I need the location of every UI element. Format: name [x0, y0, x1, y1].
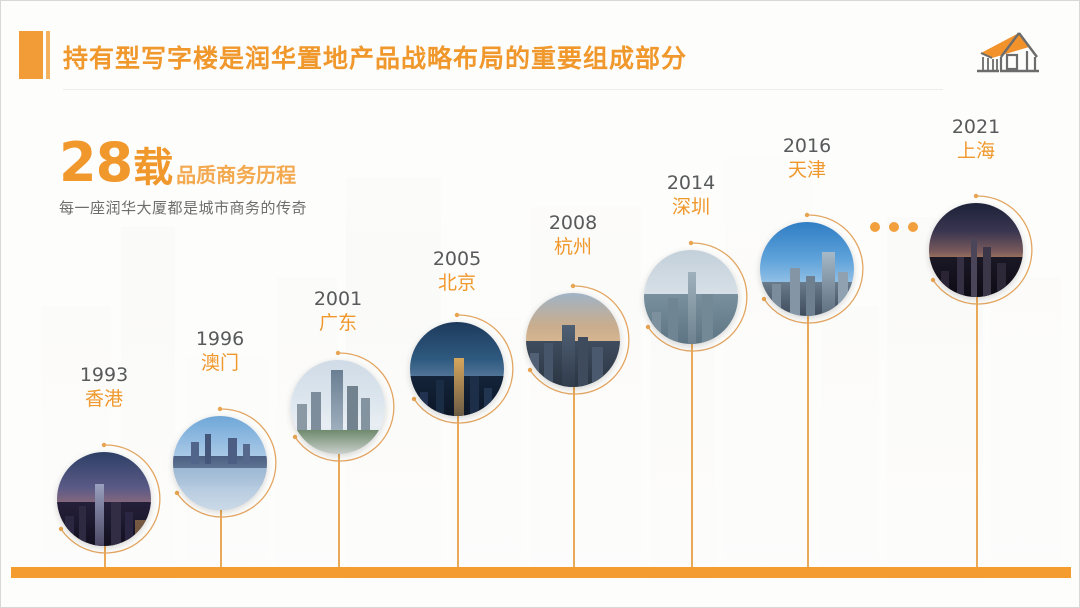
node-stem [691, 331, 693, 569]
node-label: 2016 天津 [742, 136, 872, 183]
node-year: 2008 [508, 213, 638, 235]
node-label: 2021 上海 [911, 117, 1041, 164]
footer-accent-bar [11, 567, 1071, 578]
node-stem [573, 374, 575, 569]
lead-unit: 载 [133, 148, 173, 188]
node-year: 2001 [273, 289, 403, 311]
node-city: 北京 [392, 272, 522, 296]
node-photo [173, 416, 267, 510]
node-city: 广东 [273, 312, 403, 336]
node-label: 1993 香港 [39, 365, 169, 412]
node-city: 深圳 [626, 196, 756, 220]
node-city: 上海 [911, 140, 1041, 164]
lead-number: 28 [59, 137, 132, 188]
node-year: 2021 [911, 117, 1041, 139]
timeline-ellipsis-dots [870, 222, 918, 232]
node-photo [526, 293, 620, 387]
node-year: 2016 [742, 136, 872, 158]
node-label: 2008 杭州 [508, 213, 638, 260]
node-label: 2014 深圳 [626, 173, 756, 220]
node-photo [644, 250, 738, 344]
ellipsis-dot [870, 222, 880, 232]
node-photo [760, 222, 854, 316]
node-stem [457, 403, 459, 569]
slide-header: 持有型写字楼是润华置地产品战略布局的重要组成部分 [1, 1, 1080, 97]
header-accent-bar [46, 31, 50, 79]
node-photo [57, 452, 151, 546]
node-label: 1996 澳门 [155, 329, 285, 376]
lead-headline: 28 载 品质商务历程 每一座润华大厦都是城市商务的传奇 [59, 137, 307, 218]
house-logo-icon [967, 27, 1043, 79]
header-accent-square [19, 31, 43, 79]
node-year: 2005 [392, 249, 522, 271]
header-divider [63, 89, 943, 90]
page-title: 持有型写字楼是润华置地产品战略布局的重要组成部分 [63, 39, 687, 75]
node-photo [291, 360, 385, 454]
node-stem [976, 284, 978, 569]
node-year: 1996 [155, 329, 285, 351]
lead-subtitle: 每一座润华大厦都是城市商务的传奇 [59, 197, 307, 218]
node-label: 2001 广东 [273, 289, 403, 336]
node-label: 2005 北京 [392, 249, 522, 296]
node-city: 澳门 [155, 352, 285, 376]
ellipsis-dot [889, 222, 899, 232]
node-year: 1993 [39, 365, 169, 387]
slide-canvas: 持有型写字楼是润华置地产品战略布局的重要组成部分 28 载 品质商务历程 每一座… [0, 0, 1080, 608]
ellipsis-dot [908, 222, 918, 232]
node-stem [807, 303, 809, 569]
lead-tagline: 品质商务历程 [176, 165, 296, 185]
node-city: 香港 [39, 388, 169, 412]
node-city: 杭州 [508, 236, 638, 260]
node-photo [410, 322, 504, 416]
node-photo [929, 203, 1023, 297]
node-city: 天津 [742, 159, 872, 183]
node-year: 2014 [626, 173, 756, 195]
